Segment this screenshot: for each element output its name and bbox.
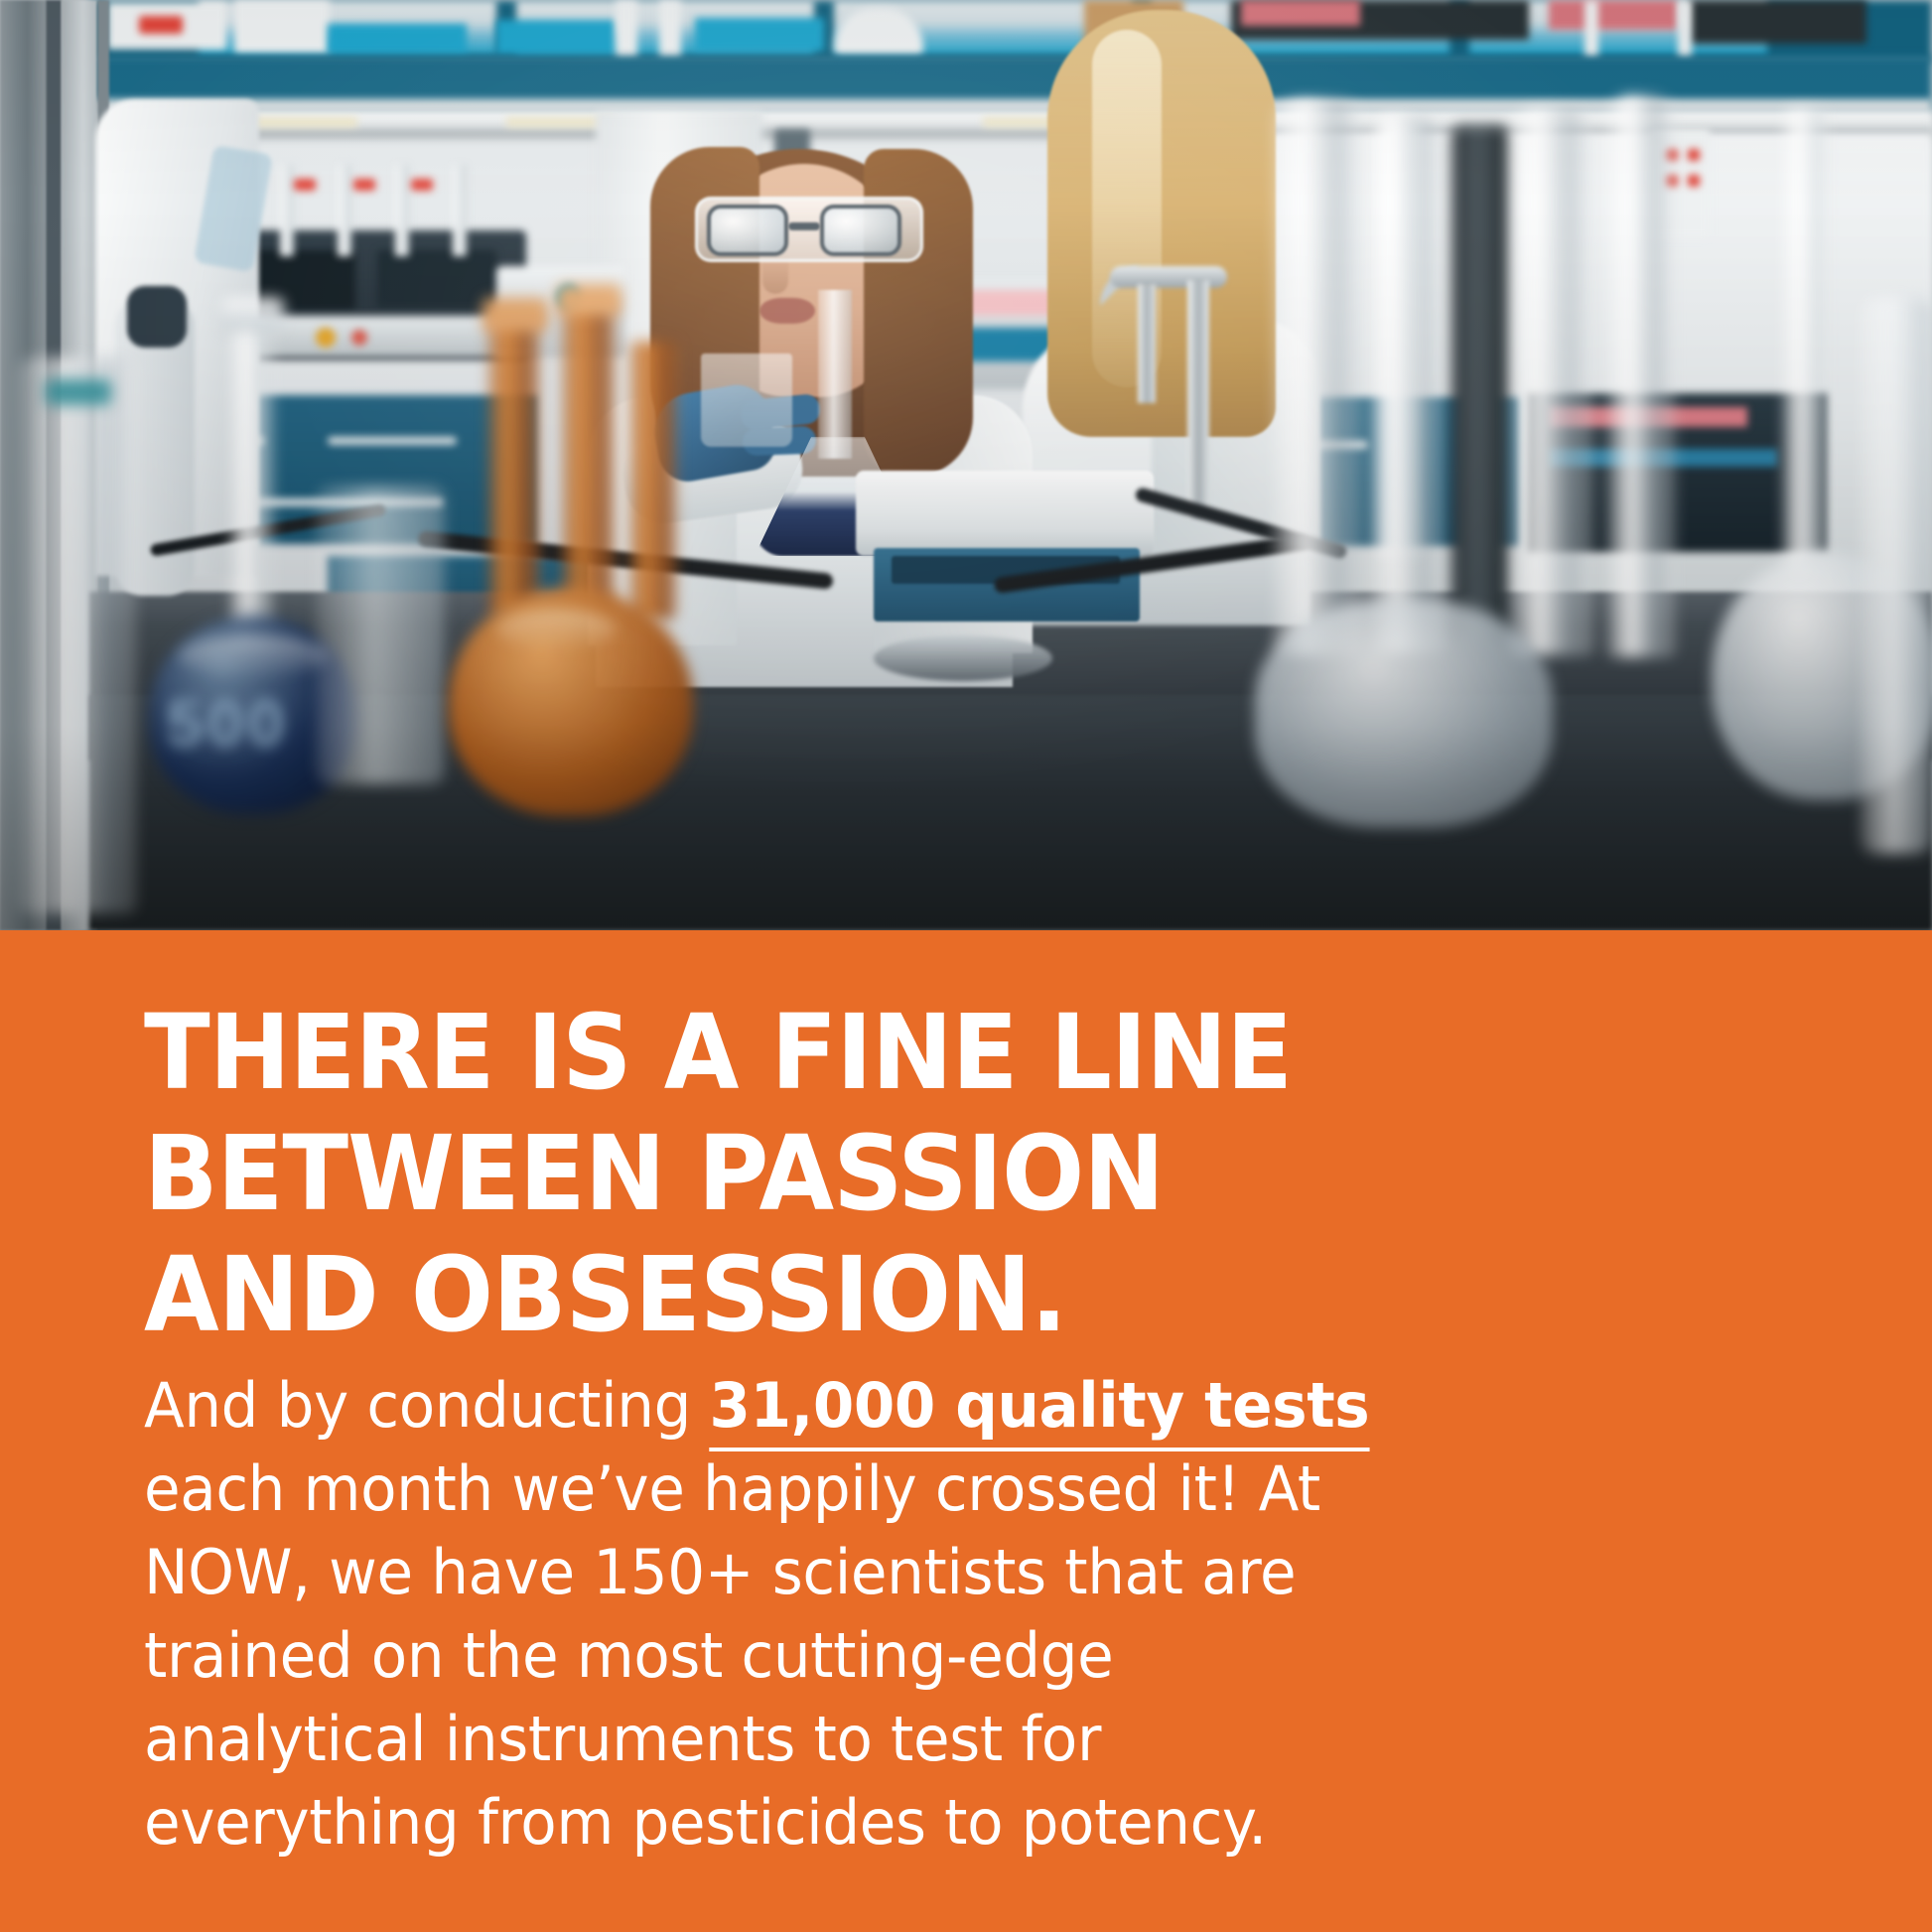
band-inner-container: THERE IS A FINE LINE BETWEEN PASSION AND… (144, 930, 1812, 1932)
amber-flask-stopper (483, 298, 548, 332)
test-tube (395, 165, 409, 256)
flask-neck (818, 290, 852, 459)
outlet-indicator (1688, 149, 1700, 161)
cabinet-stile (616, 0, 637, 62)
cabinet-handle (328, 437, 457, 445)
flask-highlight (496, 610, 616, 649)
outlet-indicator (1688, 175, 1700, 187)
eyeglass-bridge (788, 222, 820, 230)
orange-content-band: THERE IS A FINE LINE BETWEEN PASSION AND… (0, 930, 1932, 1932)
dark-instrument-column (1451, 125, 1509, 641)
glass-column-right (1273, 99, 1364, 655)
volumetric-flask-neck (230, 320, 274, 647)
amber-flask-neck (562, 302, 616, 616)
lab-faucet-arm (1110, 266, 1227, 288)
cabinet-blue-item (496, 20, 616, 56)
instrument-knob (316, 328, 336, 347)
cabinet-pink-binder (1241, 0, 1360, 26)
amber-flask-neck (488, 318, 540, 616)
poster-root: 500 THERE IS A FINE LINE BETWEEN PASSION… (0, 0, 1932, 1932)
under-shelf-lamp (248, 117, 357, 127)
tube-red-cap (294, 179, 316, 191)
cabinet-red-label (139, 16, 183, 34)
analytical-balance (856, 471, 1154, 556)
cabinet-stile (1585, 0, 1598, 62)
quality-tests-highlight: 31,000 quality tests (710, 1369, 1370, 1451)
tube-red-cap (411, 179, 433, 191)
body-paragraph: And by conducting 31,000 quality tests e… (144, 1364, 1383, 1864)
scientist-right-hair (1047, 10, 1276, 437)
glass-dish (874, 635, 1052, 681)
volumetric-flask-neck (1783, 109, 1829, 576)
lab-faucet-stem (1187, 280, 1209, 518)
glass-column-right (1509, 109, 1594, 655)
flask-highlight (179, 635, 328, 677)
volumetric-flask-neck (1378, 119, 1422, 556)
test-tube (280, 165, 294, 256)
cabinet-pink-binder (1549, 0, 1678, 30)
scientist-center-mouth (759, 298, 815, 324)
cabinet-stile (1678, 0, 1692, 62)
instrument-screen (377, 250, 496, 308)
eyeglass-lens-right (820, 205, 901, 256)
cabinet-item-box (234, 0, 330, 54)
flask-volume-label: 500 (167, 685, 288, 760)
cabinet-dark-interior (1688, 0, 1866, 44)
graduated-cylinder-left (18, 357, 137, 913)
technician-left-glove (127, 286, 187, 347)
cylinder-teal-cap (46, 379, 111, 405)
test-tube (453, 165, 467, 256)
instrument-indicator (351, 330, 367, 345)
page-headline: THERE IS A FINE LINE BETWEEN PASSION AND… (144, 992, 1599, 1355)
cabinet-blue-item (695, 18, 824, 52)
glass-bottle-left (316, 486, 445, 784)
laboratory-photo: 500 (0, 0, 1932, 930)
glass-column-right (1606, 95, 1676, 657)
flask-stopper (222, 298, 284, 332)
tube-red-cap (353, 179, 375, 191)
eyeglass-lens-left (707, 205, 788, 256)
amber-flask-stopper (556, 284, 621, 316)
body-text-before: And by conducting (144, 1369, 710, 1442)
volumetric-flask-clear (1255, 600, 1553, 828)
beaker-glassware (701, 353, 792, 447)
glass-column-right-edge (1861, 298, 1932, 854)
cabinet-blue-item (328, 24, 467, 54)
amber-flask-neck (629, 342, 677, 620)
body-text-after: each month we’ve happily crossed it! At … (144, 1452, 1320, 1859)
test-tube (338, 165, 351, 256)
lab-faucet-stem (1138, 284, 1156, 403)
cabinet-stile (659, 0, 681, 62)
